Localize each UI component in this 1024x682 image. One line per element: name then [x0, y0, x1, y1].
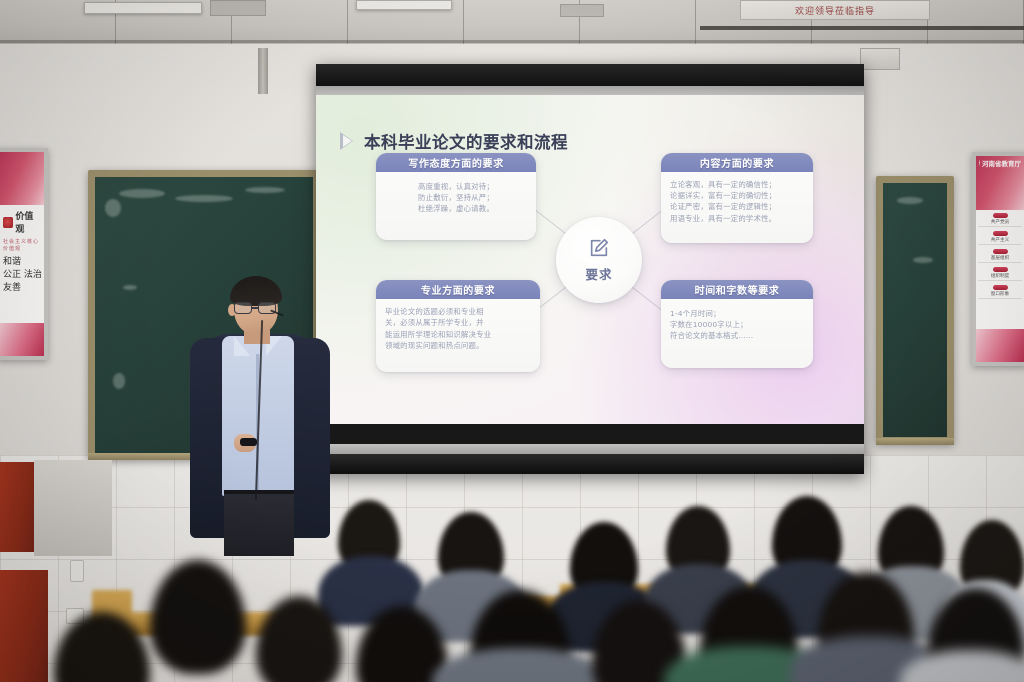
slide-title: 本科毕业论文的要求和流程 [364, 129, 568, 153]
poster-list-label: 共产党员 [978, 219, 1022, 227]
ceiling-light [84, 2, 202, 14]
heart-emblem-icon [3, 217, 13, 228]
poster-org-notice: 河南省教育厅 共产党员 共产主义 基层组织 组织制度 窗口形 [972, 152, 1024, 366]
card-line: 符合论文的基本格式…… [670, 330, 804, 341]
poster-list-item: 共产主义 [978, 231, 1022, 245]
poster-list-item: 组织制度 [978, 267, 1022, 281]
screen-bottom-rail [316, 454, 864, 474]
wall-cabinet-upper [0, 462, 36, 552]
poster-band-top: 河南省教育厅 [976, 156, 1024, 210]
ceiling-light [356, 0, 452, 10]
ceiling-vent [210, 0, 266, 16]
org-seal-icon [979, 159, 980, 168]
ceiling: 欢迎领导莅临指导 [0, 0, 1024, 48]
card-header: 时间和字数等要求 [661, 280, 813, 299]
welcome-banner: 欢迎领导莅临指导 [740, 0, 930, 20]
card-header-label: 专业方面的要求 [421, 282, 495, 297]
presentation-clicker [240, 438, 257, 446]
screen-grey-strip-bottom [316, 444, 864, 454]
wall-socket [70, 560, 84, 582]
wall-cabinet-lower [0, 570, 48, 682]
cabinet-panel [34, 460, 112, 556]
presenter-trousers [224, 494, 294, 556]
welcome-banner-text: 欢迎领导莅临指导 [795, 4, 875, 17]
ceiling-vent [560, 4, 604, 17]
poster-list-label: 共产主义 [978, 237, 1022, 245]
card-line: 毕业论文的选题必须和专业相 [385, 306, 531, 317]
poster-word: 友善 [3, 282, 41, 295]
poster-org-row: 河南省教育厅 [976, 156, 1024, 170]
poster-band-bottom [976, 329, 1024, 362]
card-header: 写作态度方面的要求 [376, 153, 536, 172]
card-line: 1-4个月时间； [670, 308, 804, 319]
poster-list-label: 窗口形象 [978, 291, 1022, 299]
poster-org-name: 河南省教育厅 [982, 158, 1021, 168]
card-header-label: 写作态度方面的要求 [408, 155, 503, 170]
card-line: 用语专业，具有一定的学术性。 [670, 213, 804, 224]
card-writing-attitude[interactable]: 写作态度方面的要求 高度重视，认真对待； 防止敷衍，坚持从严； 杜绝浮躁，虚心请… [376, 153, 536, 240]
screen-top-rail [316, 64, 864, 86]
card-major-requirements[interactable]: 专业方面的要求 毕业论文的选题必须和专业相 关，必须从属于所学专业，并 能运用所… [376, 280, 540, 372]
list-bullet-icon [993, 267, 1008, 272]
ceiling-beam [0, 40, 1024, 43]
list-bullet-icon [993, 285, 1008, 290]
poster-word: 和谐 [3, 256, 41, 269]
projector-screen: 本科毕业论文的要求和流程 写作态度方面的要求 高度重视，认真对待； 防止敷衍，坚… [316, 64, 864, 474]
card-line: 论据详实，富有一定的确切性； [670, 190, 804, 201]
list-bullet-icon [993, 249, 1008, 254]
card-body: 毕业论文的选题必须和专业相 关，必须从属于所学专业，并 能运用所学理论和知识解决… [376, 299, 540, 358]
poster-list-item: 共产党员 [978, 213, 1022, 227]
presenter [178, 276, 338, 556]
card-line: 关，必须从属于所学专业，并 [385, 317, 531, 328]
ceiling-beam [700, 26, 1024, 30]
card-line: 领域的现实问题和热点问题。 [385, 340, 531, 351]
list-bullet-icon [993, 213, 1008, 218]
card-content-requirements[interactable]: 内容方面的要求 立论客观，具有一定的确信性； 论据详实，富有一定的确切性； 论证… [661, 153, 813, 243]
classroom-photo: 欢迎领导莅临指导 本科毕业论文的要求和流程 [0, 0, 1024, 682]
slide-canvas: 本科毕业论文的要求和流程 写作态度方面的要求 高度重视，认真对待； 防止敷衍，坚… [316, 95, 864, 424]
card-header-label: 时间和字数等要求 [695, 282, 780, 297]
projector-mount [258, 48, 268, 94]
center-hub-label: 要求 [585, 264, 612, 283]
card-line: 立论客观，具有一定的确信性； [670, 179, 804, 190]
wall-speaker [860, 48, 900, 70]
card-body: 1-4个月时间； 字数在10000字以上； 符合论文的基本格式…… [661, 299, 813, 348]
poster-content: 共产党员 共产主义 基层组织 组织制度 窗口形象 [976, 210, 1024, 329]
poster-title-row: 价值观 [3, 209, 41, 235]
poster-content: 价值观 社会主义核心价值观 和谐 公正 法治 友善 [0, 205, 44, 323]
screen-grey-strip-top [316, 86, 864, 95]
chalk-tray-right [876, 438, 954, 445]
poster-list-label: 基层组织 [978, 255, 1022, 263]
card-line: 论证严密，富有一定的逻辑性； [670, 201, 804, 212]
slide-title-row: 本科毕业论文的要求和流程 [340, 129, 568, 153]
card-line: 防止敷衍，坚持从严； [385, 192, 527, 203]
poster-subtitle: 社会主义核心价值观 [3, 238, 41, 252]
list-bullet-icon [993, 231, 1008, 236]
card-time-wordcount[interactable]: 时间和字数等要求 1-4个月时间； 字数在10000字以上； 符合论文的基本格式… [661, 280, 813, 368]
card-body: 高度重视，认真对待； 防止敷衍，坚持从严； 杜绝浮躁，虚心请教。 [376, 172, 536, 221]
poster-band-top [0, 152, 44, 205]
poster-list-label: 组织制度 [978, 273, 1022, 281]
card-line: 杜绝浮躁，虚心请教。 [385, 203, 527, 214]
card-line: 能运用所学理论和知识解决专业 [385, 329, 531, 340]
card-header-label: 内容方面的要求 [700, 155, 774, 170]
card-line: 字数在10000字以上； [670, 319, 804, 330]
edit-pencil-icon [588, 237, 610, 259]
poster-title: 价值观 [15, 209, 41, 235]
poster-word: 公正 法治 [3, 269, 41, 282]
card-header: 内容方面的要求 [661, 153, 813, 172]
card-line: 高度重视，认真对待； [385, 181, 527, 192]
poster-list-item: 窗口形象 [978, 285, 1022, 299]
card-body: 立论客观，具有一定的确信性； 论据详实，富有一定的确切性； 论证严密，富有一定的… [661, 172, 813, 230]
center-hub[interactable]: 要求 [556, 217, 642, 303]
blackboard-right [876, 176, 954, 444]
card-header: 专业方面的要求 [376, 280, 540, 299]
play-triangle-icon [340, 132, 353, 150]
poster-core-values: 价值观 社会主义核心价值观 和谐 公正 法治 友善 [0, 148, 48, 360]
poster-band-bottom [0, 323, 44, 356]
poster-list-item: 基层组织 [978, 249, 1022, 263]
